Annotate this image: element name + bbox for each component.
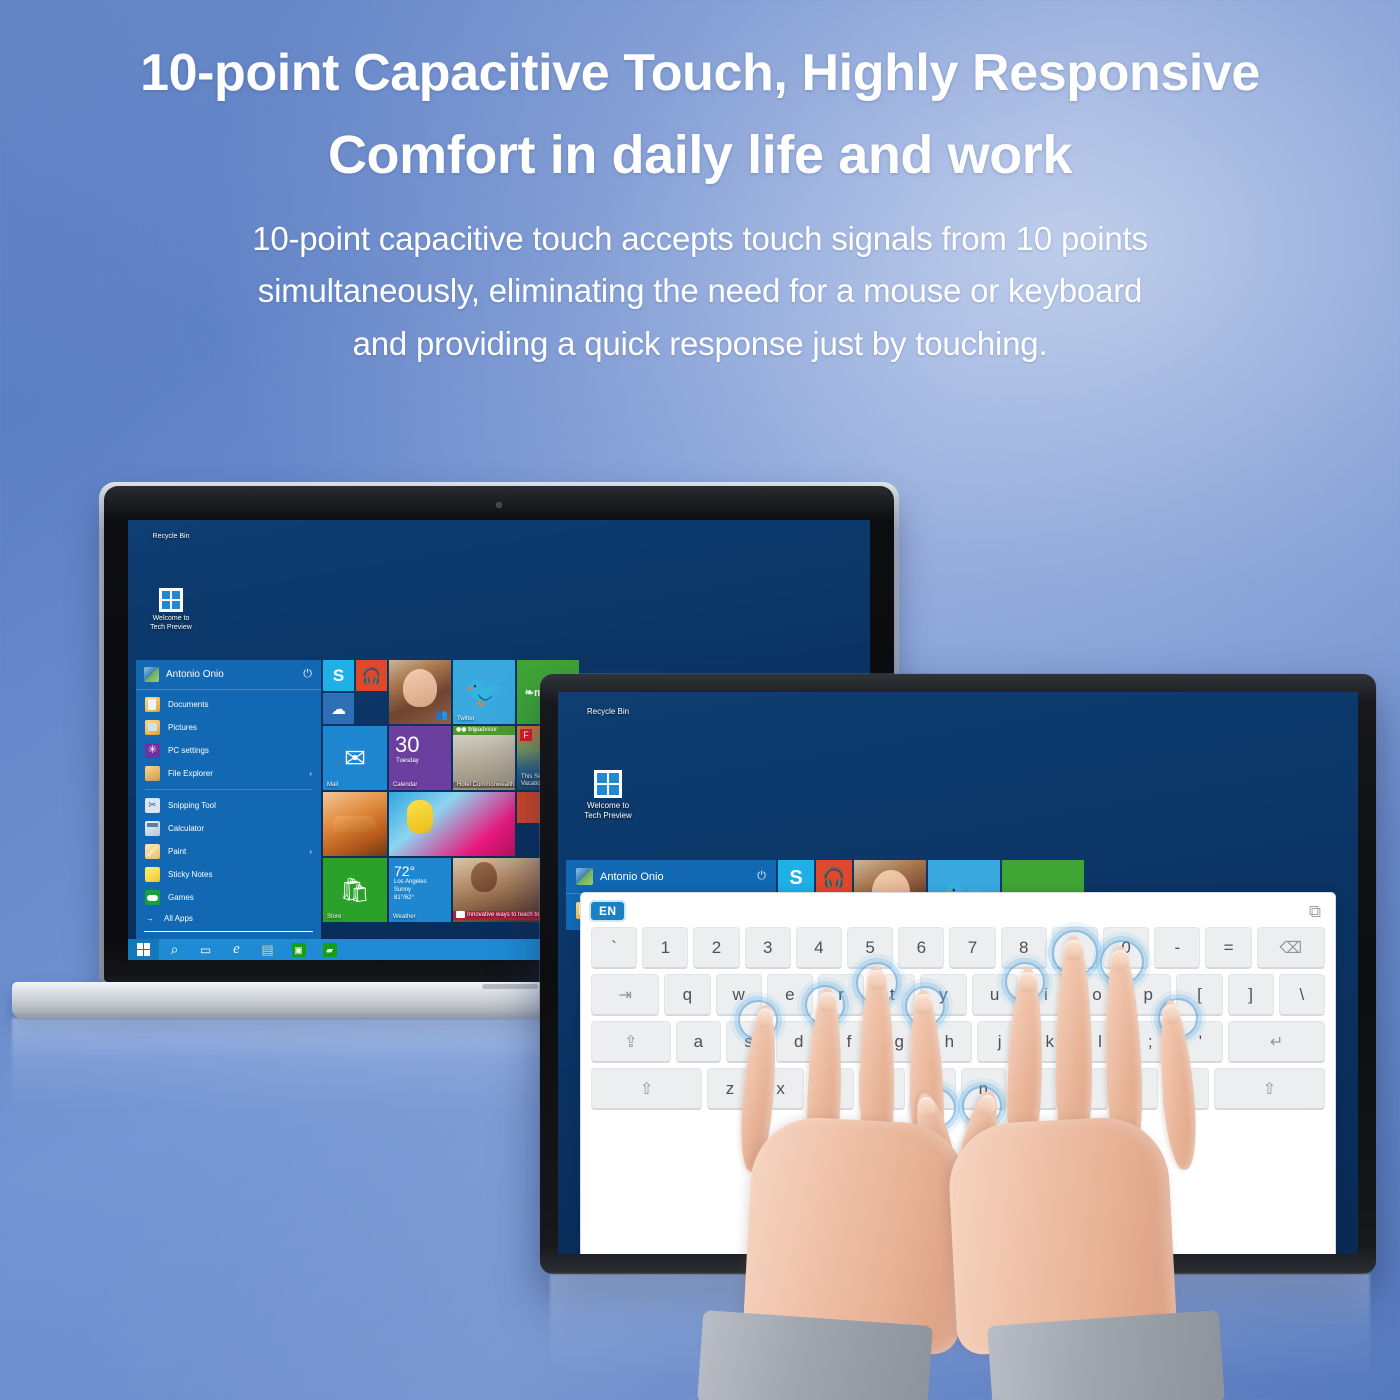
key-j[interactable]: j (977, 1021, 1022, 1063)
power-icon[interactable]: ⏻ (757, 870, 766, 883)
tablet-reflection (550, 1274, 1370, 1400)
store-icon: ▣ (292, 943, 306, 957)
gamepad-icon (145, 890, 160, 905)
start-menu-user[interactable]: Antonio Onio ⏻ (566, 860, 776, 894)
key-7[interactable]: 7 (949, 927, 995, 969)
headphones-icon: 🎧 (816, 860, 852, 896)
search-input[interactable]: ⌕ (144, 931, 313, 932)
desktop-icon-welcome-tech-preview[interactable]: Welcome to Tech Preview (572, 770, 644, 821)
keyboard-number-row: ` 1 2 3 4 5 6 7 8 9 0 - = ⌫ (591, 927, 1325, 969)
key-slash[interactable]: / (1163, 1068, 1209, 1110)
desktop-icon-label: Welcome to (572, 801, 644, 811)
windows-flag-icon (572, 770, 644, 798)
tile-skype[interactable]: S (323, 660, 354, 691)
key-m[interactable]: m (1011, 1068, 1057, 1110)
key-equals[interactable]: = (1205, 927, 1251, 969)
games-icon: ▰ (323, 943, 337, 957)
desktop-icon-label-2: Tech Preview (572, 811, 644, 821)
key-k[interactable]: k (1027, 1021, 1072, 1063)
sidebar-item-pc-settings[interactable]: PC settings (136, 739, 321, 762)
key-i[interactable]: i (1023, 974, 1069, 1016)
tile-music[interactable]: 🎧 (816, 860, 852, 896)
key-backtick[interactable]: ` (591, 927, 637, 969)
sidebar-item-pictures[interactable]: Pictures (136, 716, 321, 739)
start-menu-left-pane: Antonio Onio ⏻ Documents Pictures PC set… (136, 660, 321, 939)
minion-photo (407, 800, 433, 834)
sidebar-item-file-explorer[interactable]: File Explorer› (136, 762, 321, 785)
key-bracket-right[interactable]: ] (1228, 974, 1274, 1016)
tile-tripadvisor[interactable]: ◉◉ tripadvisor Hotel Commonwealth (453, 726, 515, 790)
gear-icon (145, 743, 160, 758)
key-r[interactable]: r (818, 974, 864, 1016)
sidebar-item-snipping-tool[interactable]: Snipping Tool (136, 794, 321, 817)
people-photo (403, 669, 437, 707)
tile-gameloft-asphalt[interactable] (323, 792, 387, 856)
key-8[interactable]: 8 (1001, 927, 1047, 969)
key-comma[interactable]: , (1062, 1068, 1108, 1110)
key-3[interactable]: 3 (745, 927, 791, 969)
all-apps-button[interactable]: → All Apps (136, 909, 321, 928)
body-line-2: simultaneously, eliminating the need for… (88, 265, 1312, 317)
key-enter[interactable]: ↵ (1228, 1021, 1325, 1063)
key-e[interactable]: e (767, 974, 813, 1016)
key-v[interactable]: v (859, 1068, 905, 1110)
user-name: Antonio Onio (600, 871, 750, 883)
key-apostrophe[interactable]: ' (1178, 1021, 1223, 1063)
key-l[interactable]: l (1077, 1021, 1122, 1063)
key-p[interactable]: p (1125, 974, 1171, 1016)
tablet-frame: Recycle Bin Welcome to Tech Preview Anto… (540, 674, 1376, 1274)
power-icon[interactable]: ⏻ (303, 668, 312, 681)
key-z[interactable]: z (707, 1068, 753, 1110)
chevron-right-icon: › (309, 847, 312, 856)
envelope-icon: ✉ (323, 726, 387, 790)
car-photo (333, 816, 377, 832)
tile-twitter[interactable]: 🐦 Twitter (453, 660, 515, 724)
tile-weather[interactable]: 72° Los Angeles Sunny 81°/62° Weather (389, 858, 451, 922)
body-line-3: and providing a quick response just by t… (88, 318, 1312, 370)
key-q[interactable]: q (664, 974, 710, 1016)
documents-icon (145, 697, 160, 712)
tile-store[interactable]: 🛍 Store (323, 858, 387, 922)
search-icon: ⌕ (171, 941, 179, 958)
keyboard-bottom-letter-row: ⇧ z x c v b n m , . / ⇧ (591, 1068, 1325, 1110)
dock-keyboard-icon[interactable]: ⧉ (1305, 902, 1325, 922)
desktop-icon-label-2: Tech Preview (140, 624, 202, 633)
key-h[interactable]: h (927, 1021, 972, 1063)
windows-desktop-tablet: Recycle Bin Welcome to Tech Preview Anto… (558, 692, 1358, 1254)
task-view-button[interactable]: ▭ (190, 939, 221, 960)
key-period[interactable]: . (1113, 1068, 1159, 1110)
tile-calendar[interactable]: 30 Tuesday Calendar (389, 726, 451, 790)
avatar (144, 667, 159, 682)
key-9[interactable]: 9 (1052, 927, 1098, 969)
sidebar-item-games[interactable]: Games (136, 886, 321, 909)
avatar (576, 868, 593, 885)
sidebar-item-sticky-notes[interactable]: Sticky Notes (136, 863, 321, 886)
tile-people[interactable]: 👥 (389, 660, 451, 724)
scissors-icon (145, 798, 160, 813)
key-f[interactable]: f (826, 1021, 871, 1063)
key-semicolon[interactable]: ; (1128, 1021, 1173, 1063)
sidebar-item-documents[interactable]: Documents (136, 693, 321, 716)
webcam-icon (496, 502, 502, 508)
key-u[interactable]: u (972, 974, 1018, 1016)
tile-onedrive[interactable]: ☁ (323, 693, 354, 724)
key-5[interactable]: 5 (847, 927, 893, 969)
keyboard-home-row: ⇪ a s d f g h j k l ; ' ↵ (591, 1021, 1325, 1063)
desktop-icon-recycle-bin[interactable]: Recycle Bin (572, 704, 644, 717)
people-badge-icon: 👥 (436, 710, 448, 721)
headphones-icon: 🎧 (356, 660, 387, 691)
language-badge[interactable]: EN (591, 902, 624, 920)
windows-flag-icon (140, 588, 202, 612)
key-n[interactable]: n (961, 1068, 1007, 1110)
desktop-icon-label: Recycle Bin (572, 707, 644, 717)
user-name: Antonio Onio (166, 669, 296, 680)
key-0[interactable]: 0 (1103, 927, 1149, 969)
arrow-right-icon: → (146, 914, 154, 923)
key-backslash[interactable]: \ (1279, 974, 1325, 1016)
twitter-bird-icon: 🐦 (453, 660, 515, 724)
page-headline: 10-point Capacitive Touch, Highly Respon… (0, 0, 1400, 101)
tripadvisor-logo: ◉◉ tripadvisor (453, 726, 515, 735)
internet-explorer-icon: e (233, 941, 240, 958)
windows-flag-icon (137, 943, 150, 956)
tile-mail[interactable]: ✉ Mail (323, 726, 387, 790)
tile-minion-game[interactable] (389, 792, 515, 856)
sticky-notes-icon (145, 867, 160, 882)
key-x[interactable]: x (758, 1068, 804, 1110)
key-6[interactable]: 6 (898, 927, 944, 969)
keyboard-top-letter-row: ⇥ q w e r t y u i o p [ ] \ (591, 974, 1325, 1016)
key-tab[interactable]: ⇥ (591, 974, 659, 1016)
key-g[interactable]: g (877, 1021, 922, 1063)
key-s[interactable]: s (726, 1021, 771, 1063)
key-backspace[interactable]: ⌫ (1257, 927, 1325, 969)
page-body-copy: 10-point capacitive touch accepts touch … (0, 213, 1400, 369)
news-icon (456, 911, 465, 918)
key-shift-left[interactable]: ⇧ (591, 1068, 702, 1110)
on-screen-keyboard: EN ⧉ ` 1 2 3 4 5 6 7 8 9 0 (580, 892, 1336, 1254)
calculator-icon (145, 821, 160, 836)
key-caps-lock[interactable]: ⇪ (591, 1021, 671, 1063)
key-b[interactable]: b (910, 1068, 956, 1110)
key-bracket-left[interactable]: [ (1176, 974, 1222, 1016)
desktop-icon-welcome-tech-preview[interactable]: Welcome to Tech Preview (140, 588, 202, 633)
games-button[interactable]: ▰ (314, 939, 345, 960)
tile-music[interactable]: 🎧 (356, 660, 387, 691)
desktop-icon-label: Welcome to (140, 615, 202, 624)
folder-icon (145, 766, 160, 781)
divider (145, 789, 312, 790)
key-4[interactable]: 4 (796, 927, 842, 969)
store-button[interactable]: ▣ (283, 939, 314, 960)
key-d[interactable]: d (776, 1021, 821, 1063)
sidebar-item-paint[interactable]: Paint› (136, 840, 321, 863)
body-line-1: 10-point capacitive touch accepts touch … (88, 213, 1312, 265)
start-button[interactable] (128, 939, 159, 960)
key-shift-right[interactable]: ⇧ (1214, 1068, 1325, 1110)
file-explorer-button[interactable]: ▤ (252, 939, 283, 960)
key-a[interactable]: a (676, 1021, 721, 1063)
key-1[interactable]: 1 (642, 927, 688, 969)
key-o[interactable]: o (1074, 974, 1120, 1016)
key-2[interactable]: 2 (693, 927, 739, 969)
key-c[interactable]: c (809, 1068, 855, 1110)
chevron-right-icon: › (309, 769, 312, 778)
flipboard-icon: F (520, 729, 532, 741)
banner-copy: 10-point Capacitive Touch, Highly Respon… (0, 0, 1400, 370)
pictures-icon (145, 720, 160, 735)
desktop-icon-recycle-bin[interactable]: Recycle Bin (140, 530, 202, 542)
key-t[interactable]: t (869, 974, 915, 1016)
cloud-icon: ☁ (323, 693, 354, 724)
paintbrush-icon (145, 844, 160, 859)
key-w[interactable]: w (716, 974, 762, 1016)
start-menu-items: Documents Pictures PC settings File Expl… (136, 690, 321, 909)
shopping-bag-icon: 🛍 (323, 858, 387, 922)
tablet-screen: Recycle Bin Welcome to Tech Preview Anto… (558, 692, 1358, 1254)
tile-skype[interactable]: S (778, 860, 814, 896)
file-explorer-icon: ▤ (261, 942, 273, 958)
key-y[interactable]: y (920, 974, 966, 1016)
tablet-device: Recycle Bin Welcome to Tech Preview Anto… (540, 674, 1376, 1274)
kid-photo (471, 862, 497, 892)
keyboard-top-bar: EN ⧉ (591, 902, 1325, 922)
search-button[interactable]: ⌕ (159, 939, 190, 960)
internet-explorer-button[interactable]: e (221, 939, 252, 960)
page-subheadline: Comfort in daily life and work (0, 127, 1400, 184)
sidebar-item-calculator[interactable]: Calculator (136, 817, 321, 840)
start-menu-user[interactable]: Antonio Onio ⏻ (136, 660, 321, 690)
key-minus[interactable]: - (1154, 927, 1200, 969)
desktop-icon-label: Recycle Bin (140, 533, 202, 542)
task-view-icon: ▭ (200, 943, 211, 957)
